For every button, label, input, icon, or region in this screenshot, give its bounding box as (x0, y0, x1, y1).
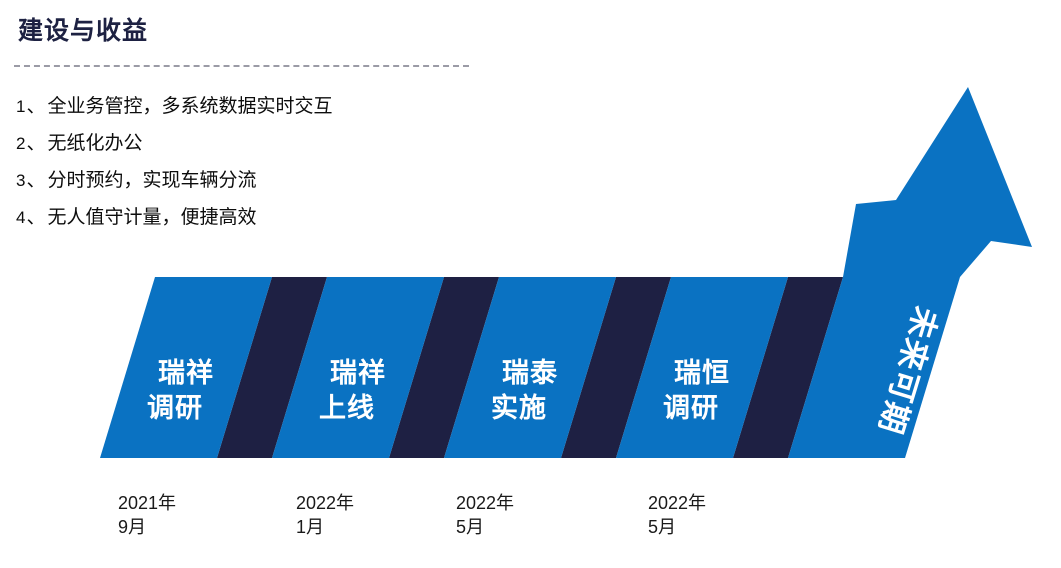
list-item: 4 、 无人值守计量，便捷高效 (16, 208, 536, 227)
list-item-separator: 、 (26, 134, 45, 153)
list-item-text: 全业务管控，多系统数据实时交互 (47, 97, 332, 116)
list-item-separator: 、 (26, 208, 45, 227)
list-item-index: 2 (16, 135, 25, 152)
timeline-date-3-month: 5月 (456, 515, 514, 539)
list-item-separator: 、 (26, 171, 45, 190)
timeline-date-1-year: 2021年 (118, 491, 176, 515)
list-item: 2 、 无纸化办公 (16, 134, 536, 153)
list-item-text: 无纸化办公 (47, 134, 142, 153)
list-item-text: 无人值守计量，便捷高效 (47, 208, 256, 227)
growth-arrow[interactable] (788, 87, 1032, 458)
timeline-date-3-year: 2022年 (456, 491, 514, 515)
timeline-date-2-year: 2022年 (296, 491, 354, 515)
timeline-date-4-month: 5月 (648, 515, 706, 539)
list-item: 3 、 分时预约，实现车辆分流 (16, 171, 536, 190)
list-item-index: 1 (16, 98, 25, 115)
page-title: 建设与收益 (18, 11, 148, 47)
title-divider (14, 65, 469, 67)
timeline-date-1: 2021年 9月 (118, 491, 176, 540)
timeline-date-4: 2022年 5月 (648, 491, 706, 540)
timeline-date-2-month: 1月 (296, 515, 354, 539)
timeline-date-1-month: 9月 (118, 515, 176, 539)
list-item-index: 3 (16, 172, 25, 189)
list-item: 1 、 全业务管控，多系统数据实时交互 (16, 97, 536, 116)
timeline-date-2: 2022年 1月 (296, 491, 354, 540)
timeline-date-3: 2022年 5月 (456, 491, 514, 540)
growth-arrow-head[interactable] (843, 87, 1032, 277)
list-item-separator: 、 (26, 97, 45, 116)
timeline-date-4-year: 2022年 (648, 491, 706, 515)
slide-canvas: 建设与收益 1 、 全业务管控，多系统数据实时交互 2 、 无纸化办公 3 、 … (0, 0, 1061, 568)
timeline-graphic: 瑞祥 调研 瑞祥 上线 瑞泰 实施 瑞恒 调研 未来可期 (0, 0, 1061, 568)
list-item-text: 分时预约，实现车辆分流 (47, 171, 256, 190)
benefit-list: 1 、 全业务管控，多系统数据实时交互 2 、 无纸化办公 3 、 分时预约，实… (16, 97, 536, 245)
list-item-index: 4 (16, 209, 25, 226)
